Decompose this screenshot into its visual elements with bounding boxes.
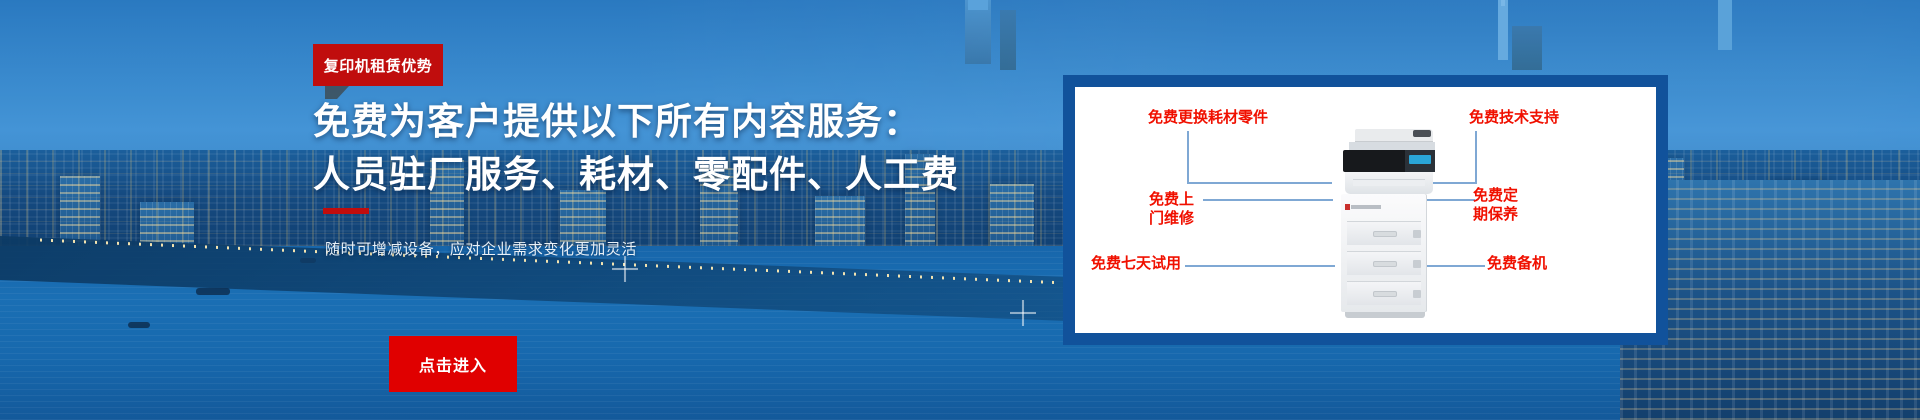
copier-machine-illustration — [1327, 129, 1437, 319]
drawer-indicator — [1413, 290, 1421, 298]
label-free-regular-maintenance: 免费定 期保养 — [1473, 187, 1518, 225]
skyline-tower — [1718, 0, 1732, 50]
advantage-badge-label: 复印机租赁优势 — [324, 55, 433, 76]
enter-button-label: 点击进入 — [419, 352, 487, 376]
control-panel-screen — [1409, 155, 1431, 164]
skyline-tower — [1000, 10, 1016, 70]
label-free-onsite-repair: 免费上 门维修 — [1149, 191, 1194, 229]
output-tray — [1345, 172, 1433, 194]
label-free-tech-support: 免费技术支持 — [1469, 109, 1559, 128]
connector-line-parts — [1187, 182, 1332, 184]
label-free-seven-day-trial: 免费七天试用 — [1091, 255, 1181, 274]
headline: 免费为客户提供以下所有内容服务： 人员驻厂服务、耗材、零配件、人工费 — [313, 96, 1013, 201]
connector-line-parts — [1187, 131, 1189, 183]
drawer-handle — [1373, 291, 1397, 297]
headline-line-2: 人员驻厂服务、耗材、零配件、人工费 — [313, 149, 1013, 202]
skyline-tower — [1512, 26, 1542, 70]
headline-line-1: 免费为客户提供以下所有内容服务： — [313, 101, 921, 142]
skyline-tower — [1498, 0, 1508, 60]
boat — [196, 288, 230, 295]
drawer-indicator — [1413, 260, 1421, 268]
advantage-badge: 复印机租赁优势 — [313, 44, 443, 86]
feeder-hinge — [1413, 130, 1431, 137]
copier-base — [1345, 312, 1425, 318]
drawer-handle — [1373, 231, 1397, 237]
subheadline: 随时可增减设备，应对企业需求变化更加灵活 — [325, 238, 845, 259]
connector-line-tech — [1475, 131, 1477, 183]
drawer-handle — [1373, 261, 1397, 267]
enter-button[interactable]: 点击进入 — [389, 336, 517, 392]
boat — [128, 322, 150, 328]
label-free-backup-machine: 免费备机 — [1487, 255, 1547, 274]
drawer-indicator — [1413, 230, 1421, 238]
label-free-parts-replacement: 免费更换耗材零件 — [1148, 109, 1268, 128]
connector-line-repair — [1203, 199, 1333, 201]
scanner-glass — [1349, 142, 1435, 150]
accent-rule — [323, 208, 369, 214]
boat — [300, 258, 316, 263]
promo-banner: 复印机租赁优势 免费为客户提供以下所有内容服务： 人员驻厂服务、耗材、零配件、人… — [0, 0, 1920, 420]
connector-line-trial — [1185, 265, 1335, 267]
scanner-unit — [1343, 150, 1405, 172]
service-diagram-panel: 免费更换耗材零件 免费技术支持 免费上 门维修 免费定 期保养 免费七天试用 免… — [1063, 75, 1668, 345]
skyline-tower — [965, 0, 991, 64]
brand-logo — [1351, 205, 1381, 209]
